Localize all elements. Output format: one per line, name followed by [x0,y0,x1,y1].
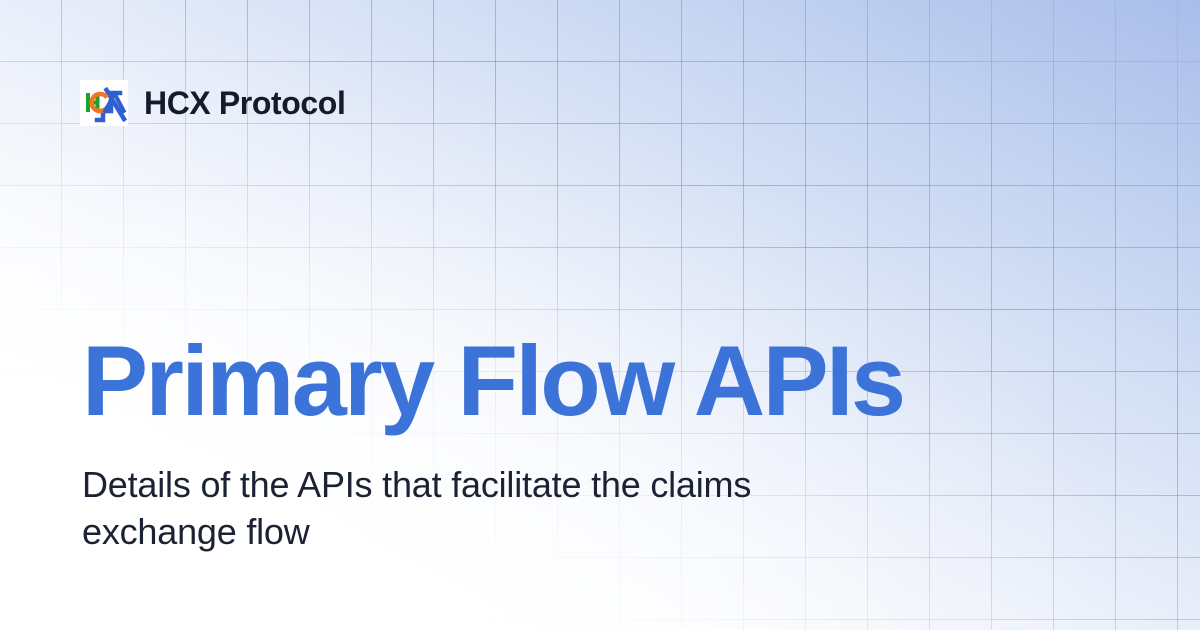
headline-block: Primary Flow APIs Details of the APIs th… [82,330,903,556]
og-banner-card: HCX Protocol Primary Flow APIs Details o… [0,0,1200,630]
page-subtitle: Details of the APIs that facilitate the … [82,461,842,556]
page-title: Primary Flow APIs [82,330,903,433]
brand-name: HCX Protocol [144,87,345,119]
card-content: HCX Protocol Primary Flow APIs Details o… [0,0,1200,630]
hcx-logo-icon [80,80,128,126]
brand-header: HCX Protocol [80,80,345,126]
